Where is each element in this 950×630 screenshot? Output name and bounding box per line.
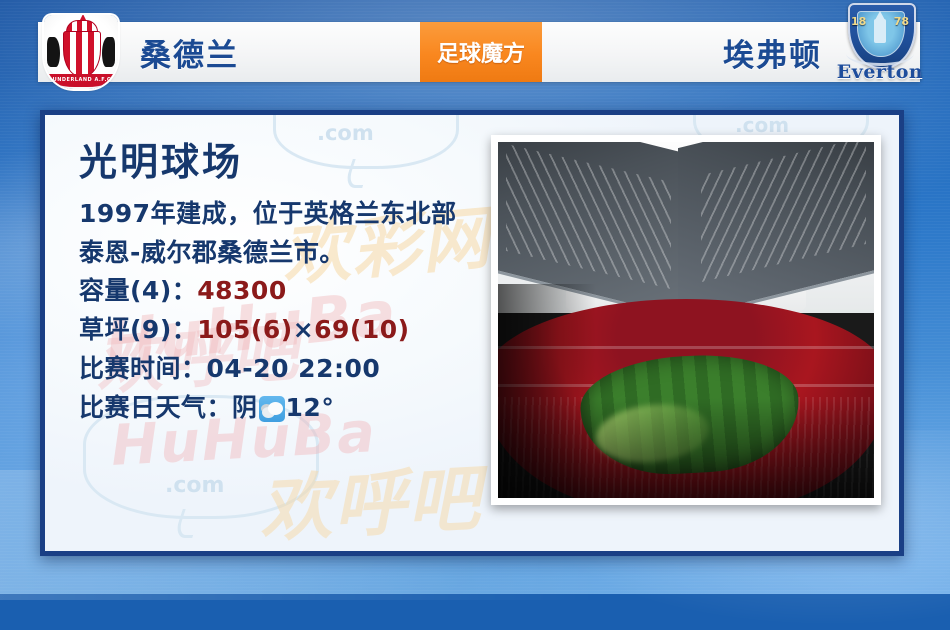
site-logo[interactable]: 足球魔方 bbox=[420, 22, 542, 82]
home-team-name: 桑德兰 bbox=[140, 30, 239, 75]
capacity-value: 48300 bbox=[197, 276, 286, 305]
crest-scroll-text: SUNDERLAND A.F.C. bbox=[48, 74, 114, 87]
stadium-info-card: .com .com HuHuBa 欢彩网 欢呼吧 HuHuBa .com 欢呼吧… bbox=[40, 110, 904, 556]
crest-year-right: 78 bbox=[894, 15, 909, 28]
match-time-label: 比赛时间： bbox=[79, 354, 207, 383]
weather-temperature: 12° bbox=[286, 393, 335, 422]
weather-condition: 阴 bbox=[232, 393, 258, 422]
lion-right-icon bbox=[102, 37, 115, 67]
crest-shield-icon bbox=[63, 31, 101, 77]
capacity-row: 容量(4)：48300 bbox=[79, 272, 499, 311]
pitch-size-separator: × bbox=[293, 315, 314, 344]
pitch-size-row: 草坪(9)：105(6)×69(10) bbox=[79, 311, 499, 350]
watermark-domain: .com bbox=[317, 121, 374, 145]
watermark-brand-cn: 欢呼吧 bbox=[256, 439, 483, 551]
prince-ruperts-tower-icon bbox=[874, 19, 886, 43]
crest-wordmark: Everton bbox=[834, 61, 926, 83]
stadium-info-block: 光明球场 1997年建成，位于英格兰东北部 泰恩-威尔郡桑德兰市。 容量(4)：… bbox=[79, 143, 499, 427]
photo-shadow-bottom bbox=[498, 398, 874, 498]
pitch-label: 草坪(9)： bbox=[79, 315, 197, 344]
stadium-photo bbox=[498, 142, 874, 498]
watermark-domain: .com bbox=[735, 115, 789, 137]
everton-crest: 18 78 Everton bbox=[834, 0, 926, 95]
match-time-value: 04-20 22:00 bbox=[207, 354, 381, 383]
lion-left-icon bbox=[47, 37, 60, 67]
page-title: 光明球场 bbox=[79, 143, 499, 183]
crest-year-left: 18 bbox=[851, 15, 866, 28]
match-weather-row: 比赛日天气：阴12° bbox=[79, 389, 499, 428]
match-time-row: 比赛时间：04-20 22:00 bbox=[79, 350, 499, 389]
match-header-bar: SUNDERLAND A.F.C. 桑德兰 足球魔方 埃弗顿 18 78 Eve… bbox=[38, 22, 920, 82]
pitch-width-value: 69(10) bbox=[314, 315, 409, 344]
capacity-label: 容量(4)： bbox=[79, 276, 197, 305]
away-team-crest-container[interactable]: 18 78 Everton bbox=[834, 13, 920, 91]
sunderland-crest: SUNDERLAND A.F.C. bbox=[44, 15, 118, 89]
home-team-crest-container[interactable]: SUNDERLAND A.F.C. bbox=[38, 13, 124, 91]
pitch-length-value: 105(6) bbox=[197, 315, 292, 344]
cloudy-weather-icon bbox=[259, 396, 285, 422]
away-team-name: 埃弗顿 bbox=[723, 30, 822, 75]
weather-label: 比赛日天气： bbox=[79, 393, 232, 422]
watermark-domain: .com bbox=[165, 473, 224, 498]
site-logo-text: 足球魔方 bbox=[437, 36, 525, 68]
stadium-info-card-inner: .com .com HuHuBa 欢彩网 欢呼吧 HuHuBa .com 欢呼吧… bbox=[45, 115, 899, 551]
stadium-photo-frame[interactable] bbox=[491, 135, 881, 505]
stadium-description-line-2: 泰恩-威尔郡桑德兰市。 bbox=[79, 234, 499, 273]
stadium-description-line-1: 1997年建成，位于英格兰东北部 bbox=[79, 195, 499, 234]
